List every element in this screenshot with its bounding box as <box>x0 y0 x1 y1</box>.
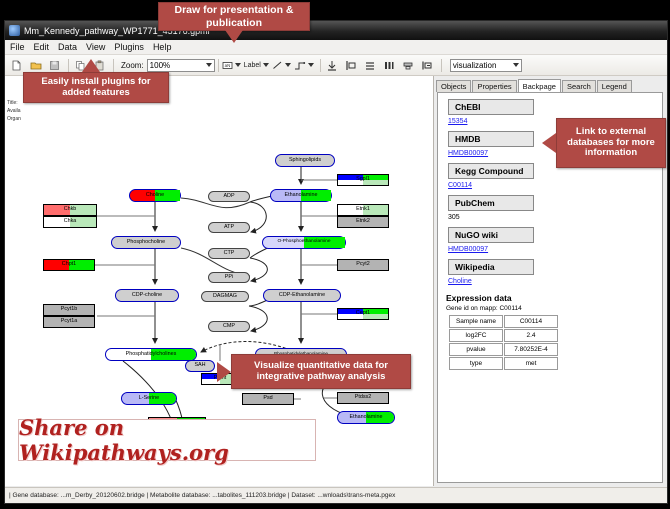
order-icon[interactable] <box>419 57 436 74</box>
node-label: CMP <box>223 324 235 329</box>
tab-objects[interactable]: Objects <box>436 80 471 92</box>
gene-sgpl1[interactable]: Sgpl1 <box>337 174 389 186</box>
callout-links-arrow-icon <box>542 133 556 153</box>
tab-backpage[interactable]: Backpage <box>518 79 561 92</box>
callout-links: Link to external databases for more info… <box>556 118 666 168</box>
node-label: DAGMAG <box>213 294 237 299</box>
callout-visualize: Visualize quantitative data for integrat… <box>231 354 411 389</box>
node-ethanolamine-1[interactable]: Ethanolamine <box>270 189 332 202</box>
callout-visualize-arrow-icon <box>217 362 231 382</box>
node-label: Ethanolamine <box>350 415 383 420</box>
node-label: CDP-Ethanolamine <box>279 293 325 298</box>
node-adp[interactable]: ADP <box>208 191 250 202</box>
visualization-combobox[interactable]: visualization <box>450 59 522 72</box>
status-bar-text: | Gene database: ...m_Derby_20120602.bri… <box>9 492 395 499</box>
node-label: ATP <box>224 225 234 230</box>
node-label: Phosphocholine <box>127 240 165 245</box>
gene-pcyt2[interactable]: Pcyt2 <box>337 259 389 271</box>
expression-row-value: 7.80252E-4 <box>504 343 558 356</box>
screenshot-root: Mm_Kennedy_pathway_WP1771_45176.gpml Fil… <box>0 0 670 509</box>
zoom-label: Zoom: <box>121 61 144 70</box>
node-label: L-Serine <box>139 396 159 401</box>
callout-share: Share on Wikipathways.org <box>18 419 316 461</box>
menu-bar: File Edit Data View Plugins Help <box>5 40 667 55</box>
node-label: Sgpl1 <box>356 177 370 182</box>
node-label: Etnk2 <box>356 219 370 224</box>
node-label: CDP-choline <box>132 293 162 298</box>
db-header-hmdb: HMDB <box>448 131 534 147</box>
tab-search[interactable]: Search <box>562 80 596 92</box>
datanode-tool[interactable]: aN <box>222 60 241 71</box>
expression-row-value: met <box>504 357 558 370</box>
menu-item-edit[interactable]: Edit <box>34 42 50 52</box>
status-bar: | Gene database: ...m_Derby_20120602.bri… <box>5 487 667 503</box>
chevron-down-icon <box>206 63 212 67</box>
callout-visualize-text: Visualize quantitative data for integrat… <box>236 361 406 383</box>
expression-row-key: Sample name <box>449 315 503 328</box>
chevron-down-icon <box>263 63 269 67</box>
db-header-nugo-wiki: NuGO wiki <box>448 227 534 243</box>
expression-data-heading: Expression data <box>446 293 662 303</box>
expression-row-value: 2.4 <box>504 329 558 342</box>
expression-row-key: pvalue <box>449 343 503 356</box>
callout-plugins-text: Easily install plugins for added feature… <box>29 77 163 99</box>
table-row: type met <box>449 357 558 370</box>
node-phosphatidylcholines[interactable]: Phosphatidylcholines <box>105 348 197 361</box>
menu-item-data[interactable]: Data <box>58 42 77 52</box>
db-header-kegg-compound: Kegg Compound <box>448 163 534 179</box>
node-sah[interactable]: SAH <box>185 360 215 372</box>
gene-chkb[interactable]: Chkb <box>43 204 97 216</box>
node-cdp-ethanolamine[interactable]: CDP-Ethanolamine <box>263 289 341 302</box>
node-cmp[interactable]: CMP <box>208 321 250 332</box>
node-label: Ptdss2 <box>355 395 371 400</box>
stack-icon[interactable] <box>362 57 379 74</box>
toolbar-separator <box>218 59 219 72</box>
gene-etnk1[interactable]: Etnk1 <box>337 204 389 216</box>
node-label: Cept1 <box>356 311 370 316</box>
menu-item-view[interactable]: View <box>86 42 105 52</box>
node-sphingolipids[interactable]: Sphingolipids <box>275 154 335 167</box>
node-l-serine-1[interactable]: L-Serine <box>121 392 177 405</box>
group-icon[interactable] <box>400 57 417 74</box>
node-atp[interactable]: ATP <box>208 222 250 233</box>
distribute-icon[interactable] <box>381 57 398 74</box>
zoom-value: 100% <box>150 61 170 70</box>
db-header-pubchem: PubChem <box>448 195 534 211</box>
callout-draw-text: Draw for presentation & publication <box>163 4 305 28</box>
toolbar-separator <box>320 59 321 72</box>
chevron-down-icon <box>285 63 291 67</box>
chevron-down-icon <box>308 63 314 67</box>
canvas-info-organism: Organ <box>7 116 21 122</box>
canvas-info-title: Title: <box>7 100 18 106</box>
svg-text:aN: aN <box>224 63 230 68</box>
table-row: pvalue 7.80252E-4 <box>449 343 558 356</box>
toolbar-separator <box>68 59 69 72</box>
db-header-wikipedia: Wikipedia <box>448 259 534 275</box>
align-bottom-icon[interactable] <box>324 57 341 74</box>
gene-psd[interactable]: Psd <box>242 393 294 405</box>
expression-row-key: type <box>449 357 503 370</box>
table-row: log2FC 2.4 <box>449 329 558 342</box>
gene-etnk2[interactable]: Etnk2 <box>337 216 389 228</box>
tab-properties[interactable]: Properties <box>472 80 516 92</box>
title-bar: Mm_Kennedy_pathway_WP1771_45176.gpml <box>5 21 667 40</box>
node-o-phosphoethanolamine[interactable]: O-Phosphoethanolamine <box>262 236 346 249</box>
menu-item-file[interactable]: File <box>10 42 25 52</box>
zoom-combobox[interactable]: 100% <box>147 59 215 72</box>
node-label: Pcyt1a <box>61 319 77 324</box>
expression-table: Sample name C00114 log2FC 2.4 pvalue 7.8… <box>448 314 559 371</box>
app-icon <box>9 25 20 36</box>
node-dagmag[interactable]: DAGMAG <box>201 291 249 302</box>
menu-item-plugins[interactable]: Plugins <box>114 42 144 52</box>
table-row: Sample name C00114 <box>449 315 558 328</box>
expression-row-key: log2FC <box>449 329 503 342</box>
label-tool-label: Label <box>244 62 261 69</box>
node-ethanolamine-2[interactable]: Ethanolamine <box>337 411 395 424</box>
node-label: PPi <box>225 275 233 280</box>
line-tool[interactable] <box>272 60 291 71</box>
align-left-icon[interactable] <box>343 57 360 74</box>
label-tool[interactable]: Label <box>244 62 269 69</box>
node-label: Chpt1 <box>62 262 76 267</box>
node-label: SAH <box>194 363 205 368</box>
node-label: Phosphatidylcholines <box>126 352 177 357</box>
visualization-value: visualization <box>453 61 497 70</box>
node-label: CTP <box>224 251 235 256</box>
side-panel-tabs: Objects Properties Backpage Search Legen… <box>436 78 633 92</box>
gene-id-on-mapp: Gene id on mapp: C00114 <box>446 305 662 312</box>
node-ppi[interactable]: PPi <box>208 272 250 283</box>
tab-legend[interactable]: Legend <box>597 80 632 92</box>
callout-plugins: Easily install plugins for added feature… <box>23 72 169 103</box>
callout-links-text: Link to external databases for more info… <box>561 127 661 160</box>
node-label: O-Phosphoethanolamine <box>277 240 330 245</box>
chevron-down-icon <box>513 63 519 67</box>
gene-cept1[interactable]: Cept1 <box>337 308 389 320</box>
node-label: Ethanolamine <box>285 193 318 198</box>
connector-tool[interactable] <box>294 60 314 71</box>
node-label: Chkb <box>64 207 77 212</box>
db-header-chebi: ChEBI <box>448 99 534 115</box>
db-link-nugo-wiki[interactable]: HMDB00097 <box>448 246 662 253</box>
node-label: Pcyt1b <box>61 307 77 312</box>
callout-plugins-arrow-icon <box>82 59 100 72</box>
menu-item-help[interactable]: Help <box>153 42 172 52</box>
gene-chpt1[interactable]: Chpt1 <box>43 259 95 271</box>
node-label: Sphingolipids <box>289 158 321 163</box>
canvas-info-available: Availa <box>7 108 21 114</box>
gene-pcyt1a[interactable]: Pcyt1a <box>43 316 95 328</box>
new-file-icon[interactable] <box>8 57 25 74</box>
node-label: Etnk1 <box>356 207 370 212</box>
node-choline-top[interactable]: Choline <box>129 189 181 202</box>
open-folder-icon[interactable] <box>27 57 44 74</box>
expression-row-value: C00114 <box>504 315 558 328</box>
db-link-wikipedia[interactable]: Choline <box>448 278 662 285</box>
toolbar-separator <box>113 59 114 72</box>
callout-draw-arrow-icon <box>225 30 243 43</box>
db-link-kegg-compound[interactable]: C00114 <box>448 182 662 189</box>
db-value-pubchem: 305 <box>448 214 662 221</box>
gene-pcyt1b[interactable]: Pcyt1b <box>43 304 95 316</box>
node-phosphocholine[interactable]: Phosphocholine <box>111 236 181 249</box>
node-label: Choline <box>146 193 164 198</box>
node-label: Psd <box>263 396 272 401</box>
node-cdp-choline[interactable]: CDP-choline <box>115 289 179 302</box>
toolbar-separator <box>441 59 442 72</box>
gene-ptdss2[interactable]: Ptdss2 <box>337 392 389 404</box>
save-icon[interactable] <box>46 57 63 74</box>
node-label: ADP <box>223 194 234 199</box>
node-label: Chka <box>64 219 77 224</box>
callout-draw: Draw for presentation & publication <box>158 2 310 31</box>
node-label: Pcyt2 <box>356 262 369 267</box>
node-ctp[interactable]: CTP <box>208 248 250 259</box>
chevron-down-icon <box>235 63 241 67</box>
callout-share-text: Share on Wikipathways.org <box>19 415 315 465</box>
gene-chka[interactable]: Chka <box>43 216 97 228</box>
